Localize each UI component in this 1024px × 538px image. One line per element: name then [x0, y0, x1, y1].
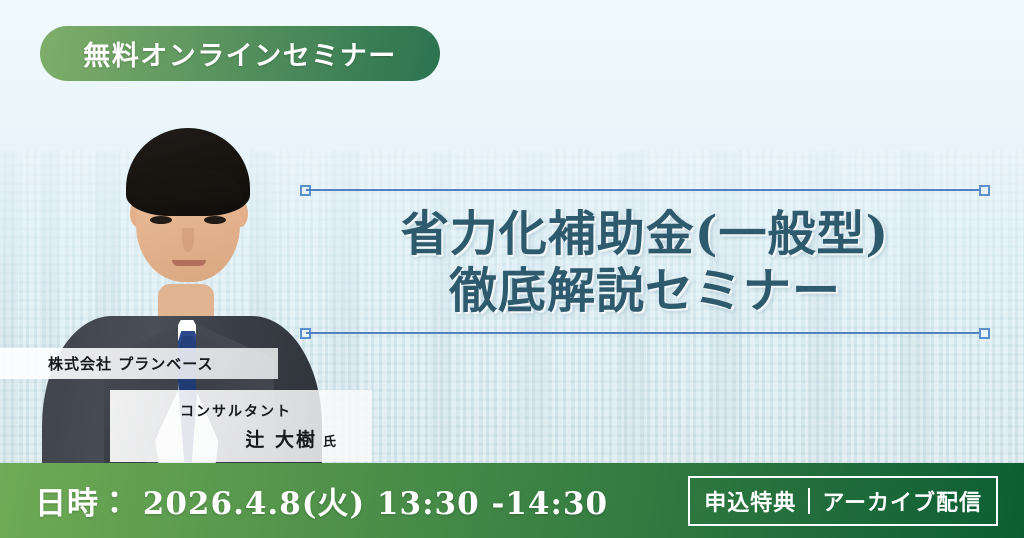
benefit-label: 申込特典: [704, 485, 796, 517]
rule-cap-right-icon: [979, 185, 990, 196]
portrait-hair: [126, 128, 250, 216]
title-rule-bottom: [300, 328, 990, 338]
benefit-value: アーカイブ配信: [822, 485, 982, 517]
speaker-name-suffix: 氏: [323, 435, 338, 450]
seminar-title: 省力化補助金(一般型) 徹底解説セミナー: [300, 195, 990, 328]
free-seminar-badge-label: 無料オンラインセミナー: [83, 34, 397, 73]
speaker-name-row: 辻 大樹氏: [110, 421, 356, 452]
speaker-company-panel: 株式会社 プランベース: [0, 348, 278, 379]
event-datetime: 日時： 2026.4.8(火) 13:30 -14:30: [35, 478, 608, 523]
speaker-role: コンサルタント: [110, 401, 356, 421]
benefit-divider-icon: [808, 488, 810, 514]
portrait-eye-right: [204, 216, 226, 224]
seminar-title-block: 省力化補助金(一般型) 徹底解説セミナー: [300, 185, 990, 338]
free-seminar-badge: 無料オンラインセミナー: [40, 26, 440, 81]
portrait-nose: [182, 228, 194, 252]
speaker-company-name: 株式会社 プランベース: [48, 353, 278, 374]
rule-line: [306, 332, 984, 334]
seminar-title-line1: 省力化補助金(一般型): [300, 206, 990, 263]
speaker-name-panel: コンサルタント 辻 大樹氏: [110, 390, 372, 462]
speaker-name: 辻 大樹: [245, 429, 317, 451]
title-rule-top: [300, 185, 990, 195]
seminar-title-line2: 徹底解説セミナー: [300, 263, 990, 320]
rule-line: [306, 189, 984, 191]
registration-benefit-box: 申込特典 アーカイブ配信: [688, 476, 998, 526]
seminar-banner: 無料オンラインセミナー 省力化補助金(一般型) 徹底解説セミナー: [0, 0, 1024, 538]
rule-cap-right-icon: [979, 328, 990, 339]
portrait-eye-left: [150, 216, 172, 224]
footer-bar: 日時： 2026.4.8(火) 13:30 -14:30 申込特典 アーカイブ配…: [0, 463, 1024, 538]
portrait-mouth: [172, 260, 206, 266]
